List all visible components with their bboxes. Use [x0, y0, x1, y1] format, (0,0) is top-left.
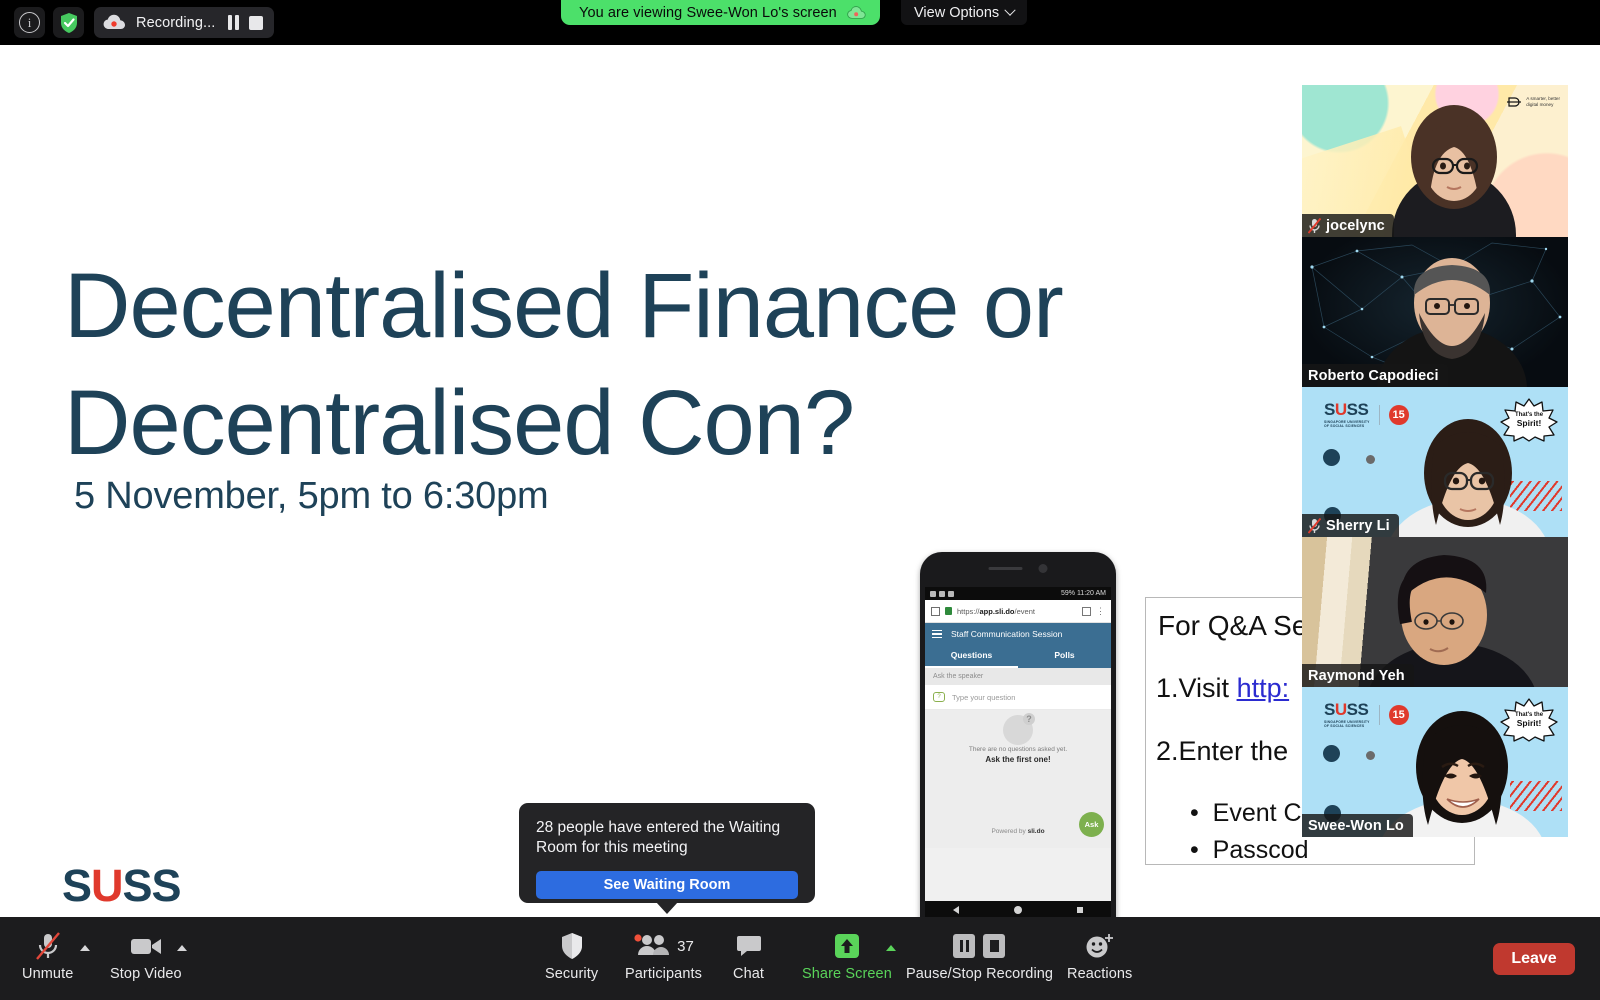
recording-indicator[interactable]: Recording... — [94, 7, 274, 38]
suss-logo: SUSS SINGAPORE UNIVERSITYOF SOCIAL SCIEN… — [1324, 701, 1409, 728]
recording-controls — [228, 15, 263, 30]
recording-label: Pause/Stop Recording — [906, 966, 1053, 982]
participant-name: Raymond Yeh — [1308, 668, 1405, 684]
participant-name: jocelync — [1326, 218, 1385, 234]
view-options-label: View Options — [914, 5, 999, 21]
phone-mockup: 59% 11:20 AM https://app.sli.do/event ⋮ — [920, 552, 1116, 917]
dbs-tagline: A smarter, better digital money — [1526, 96, 1560, 107]
unmute-label: Unmute — [22, 966, 73, 982]
suss-logo-s2: SS — [123, 863, 181, 908]
home-icon — [931, 607, 940, 616]
shield-icon — [560, 931, 584, 961]
spirit-starburst: That's the Spirit! — [1500, 698, 1558, 742]
participant-video-strip: A smarter, better digital money — [1302, 85, 1568, 837]
question-input-row[interactable]: ? Type your question — [925, 685, 1111, 710]
participants-label: Participants — [625, 966, 702, 982]
chevron-up-icon — [80, 945, 90, 951]
video-tile[interactable]: A smarter, better digital money — [1302, 85, 1568, 237]
screen-share-banner: You are viewing Swee-Won Lo's screen — [561, 0, 880, 25]
dbs-mark-icon — [1506, 94, 1522, 110]
dbs-logo: A smarter, better digital money — [1506, 94, 1560, 110]
slido-header: Staff Communication Session Questions Po… — [925, 623, 1111, 668]
participant-name: Swee-Won Lo — [1308, 818, 1404, 834]
participants-button[interactable]: 37 Participants — [625, 931, 702, 982]
chevron-up-icon — [886, 945, 896, 951]
empty-questions-state: There are no questions asked yet. Ask th… — [925, 710, 1111, 814]
spirit-line-2: Spirit! — [1517, 419, 1542, 428]
info-icon: i — [19, 12, 40, 33]
cloud-recording-icon — [847, 6, 867, 20]
encryption-button[interactable] — [53, 7, 84, 38]
qa-heading: For Q&A Ses — [1158, 610, 1321, 642]
participant-name-bar: Raymond Yeh — [1302, 664, 1414, 687]
empty-line-1: There are no questions asked yet. — [925, 746, 1111, 753]
ask-speaker-label: Ask the speaker — [925, 668, 1111, 685]
chat-button[interactable]: Chat — [733, 931, 764, 982]
camera-icon — [130, 931, 162, 961]
ask-button[interactable]: Ask — [1079, 812, 1104, 837]
unmute-button[interactable]: Unmute — [22, 931, 73, 982]
suss-logo: SUSS SINGAPORE UNIVERSITYOF SOCIAL SCIEN… — [1324, 401, 1409, 428]
suss-logo-s1: S — [62, 863, 91, 908]
participant-name-bar: jocelync — [1302, 214, 1394, 237]
microphone-muted-icon — [35, 931, 61, 961]
slido-footer: Powered by sli.do Ask — [925, 814, 1111, 848]
video-options-caret[interactable] — [177, 945, 187, 951]
participant-name-bar: Sherry Li — [1302, 514, 1399, 537]
security-button[interactable]: Security — [545, 931, 598, 982]
pause-recording-icon[interactable] — [228, 15, 239, 30]
back-icon[interactable] — [953, 906, 959, 914]
waiting-room-notification: 28 people have entered the Waiting Room … — [519, 803, 815, 903]
spirit-line-2: Spirit! — [1517, 719, 1542, 728]
speech-bubble-icon: ? — [933, 692, 945, 702]
chevron-down-icon — [1005, 4, 1016, 15]
url-path: /event — [1015, 607, 1035, 616]
suss-logo-u: U — [91, 863, 123, 908]
security-label: Security — [545, 966, 598, 982]
more-menu-icon[interactable]: ⋮ — [1096, 606, 1105, 617]
phone-url-bar[interactable]: https://app.sli.do/event ⋮ — [925, 600, 1111, 623]
suss-wordmark: SUSS — [1324, 401, 1370, 418]
home-button-icon[interactable] — [1014, 906, 1022, 914]
question-input-placeholder: Type your question — [952, 693, 1015, 702]
top-bar: i Recording... — [0, 0, 1600, 45]
recording-label: Recording... — [136, 15, 215, 31]
participants-icon: 37 — [633, 931, 694, 961]
slido-tabs: Questions Polls — [925, 645, 1111, 668]
chat-label: Chat — [733, 966, 764, 982]
view-options-button[interactable]: View Options — [901, 0, 1027, 25]
chevron-up-icon — [177, 945, 187, 951]
suss-sub: SINGAPORE UNIVERSITYOF SOCIAL SCIENCES — [1324, 420, 1370, 428]
video-tile-active-speaker[interactable]: SUSS SINGAPORE UNIVERSITYOF SOCIAL SCIEN… — [1302, 687, 1568, 837]
tab-questions[interactable]: Questions — [925, 645, 1018, 668]
pause-stop-recording-button[interactable]: Pause/Stop Recording — [906, 931, 1053, 982]
participant-name: Roberto Capodieci — [1308, 368, 1439, 384]
suss-sub: SINGAPORE UNIVERSITYOF SOCIAL SCIENCES — [1324, 720, 1370, 728]
stop-video-label: Stop Video — [110, 966, 182, 982]
qa-step-1: 1.Visit http: — [1156, 673, 1289, 704]
share-screen-label: Share Screen — [802, 966, 892, 982]
spirit-text: That's the Spirit! — [1500, 698, 1558, 742]
suss-wordmark: S U SS — [62, 863, 202, 908]
phone-url-text: https://app.sli.do/event — [957, 607, 1077, 616]
dbs-tagline-2: digital money — [1526, 102, 1560, 108]
recents-icon[interactable] — [1077, 907, 1083, 913]
encryption-shield-icon — [59, 12, 79, 34]
phone-nav-bar — [925, 901, 1111, 917]
audio-options-caret[interactable] — [80, 945, 90, 951]
anniversary-badge: 15 — [1389, 405, 1409, 425]
share-banner-text: You are viewing Swee-Won Lo's screen — [579, 5, 837, 21]
url-domain: app.sli.do — [980, 607, 1015, 616]
cloud-recording-icon — [103, 14, 127, 31]
reactions-button[interactable]: Reactions — [1067, 931, 1132, 982]
slido-event-title: Staff Communication Session — [951, 629, 1062, 639]
phone-status-bar: 59% 11:20 AM — [925, 587, 1111, 600]
url-prefix: https:// — [957, 607, 980, 616]
qa-step-2: 2.Enter the — [1156, 736, 1288, 767]
share-screen-arrow-icon — [834, 931, 860, 961]
avatar-placeholder-icon — [1003, 715, 1033, 745]
video-tile[interactable]: Raymond Yeh — [1302, 537, 1568, 687]
video-tile[interactable]: Roberto Capodieci — [1302, 237, 1568, 387]
meeting-toolbar: Unmute Stop Video — [0, 917, 1600, 1000]
phone-speaker — [989, 564, 1048, 573]
participant-name: Sherry Li — [1326, 518, 1390, 534]
video-tile[interactable]: SUSS SINGAPORE UNIVERSITYOF SOCIAL SCIEN… — [1302, 387, 1568, 537]
slide-subtitle: 5 November, 5pm to 6:30pm — [74, 475, 548, 518]
spirit-text: That's the Spirit! — [1500, 398, 1558, 442]
zoom-meeting-window: i Recording... — [0, 0, 1600, 1000]
leave-button[interactable]: Leave — [1493, 943, 1575, 975]
qa-bullet-2-text: Passcod — [1213, 836, 1309, 864]
waiting-room-message: 28 people have entered the Waiting Room … — [536, 818, 798, 859]
qa-step-1-text: 1.Visit — [1156, 673, 1229, 703]
tab-polls[interactable]: Polls — [1018, 645, 1111, 668]
participant-name-bar: Roberto Capodieci — [1302, 364, 1448, 387]
phone-battery: 59% — [1061, 590, 1075, 597]
stop-video-button[interactable]: Stop Video — [110, 931, 182, 982]
stop-recording-icon[interactable] — [249, 16, 263, 30]
meeting-info-button[interactable]: i — [14, 7, 45, 38]
participants-count: 37 — [677, 938, 694, 955]
chat-bubble-icon — [736, 931, 762, 961]
suss-logo: S U SS SINGAPORE UNIVERSITY OF SOCIAL SC… — [62, 863, 202, 917]
hamburger-menu-icon[interactable] — [932, 630, 942, 639]
qa-step-1-link[interactable]: http: — [1237, 673, 1290, 703]
slido-brand: sli.do — [1028, 828, 1045, 835]
top-left-controls: i Recording... — [14, 7, 274, 38]
see-waiting-room-button[interactable]: See Waiting Room — [536, 871, 798, 899]
empty-line-2: Ask the first one! — [925, 755, 1111, 764]
share-screen-button[interactable]: Share Screen — [802, 931, 892, 982]
smiley-plus-icon — [1085, 931, 1115, 961]
participant-name-bar: Swee-Won Lo — [1302, 814, 1413, 837]
anniversary-badge: 15 — [1389, 705, 1409, 725]
toast-pointer — [656, 902, 678, 914]
powered-by-label: Powered by — [991, 828, 1025, 835]
muted-mic-icon — [1308, 518, 1321, 534]
qa-bullet-1: • Event C — [1190, 799, 1302, 828]
share-options-caret[interactable] — [886, 945, 896, 951]
pause-stop-icon — [952, 931, 1008, 961]
qa-bullet-1-text: Event C — [1213, 799, 1302, 827]
spirit-starburst: That's the Spirit! — [1500, 398, 1558, 442]
lock-icon — [945, 607, 952, 615]
reactions-label: Reactions — [1067, 966, 1132, 982]
qa-bullet-2: • Passcod — [1190, 836, 1309, 865]
phone-screen: 59% 11:20 AM https://app.sli.do/event ⋮ — [925, 587, 1111, 901]
suss-wordmark: SUSS — [1324, 701, 1370, 718]
tabs-icon[interactable] — [1082, 607, 1091, 616]
muted-mic-icon — [1308, 218, 1321, 234]
phone-time: 11:20 AM — [1077, 590, 1106, 597]
